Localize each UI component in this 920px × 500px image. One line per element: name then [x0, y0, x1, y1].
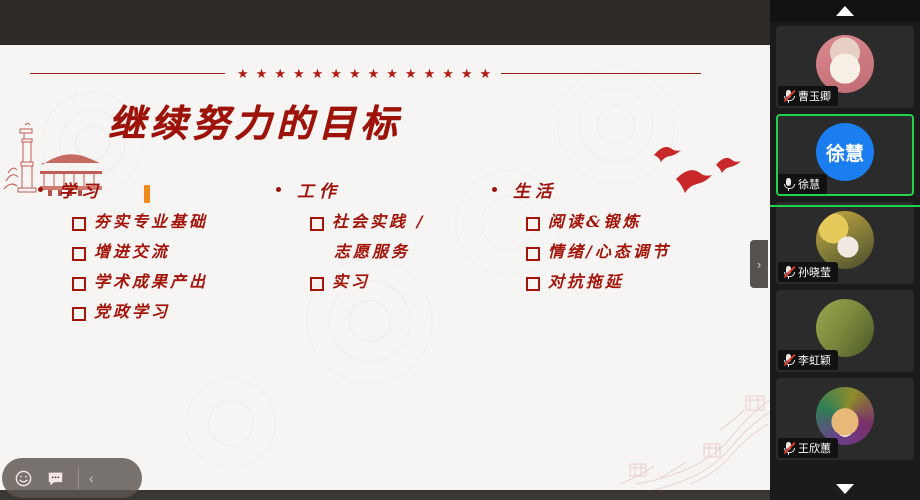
- microphone-icon: [783, 177, 794, 191]
- participant-nameplate: 孙晓莹: [778, 262, 838, 282]
- triangle-up-icon: [836, 6, 854, 16]
- goal-item: 实习: [310, 272, 486, 292]
- participant-nameplate: 王欣蕙: [778, 438, 838, 458]
- checkbox-square-icon: [526, 277, 540, 291]
- star-icon: ★: [293, 67, 305, 80]
- participant-tile[interactable]: 孙晓莹: [776, 202, 914, 284]
- participant-nameplate: 曹玉卿: [778, 86, 838, 106]
- checkbox-square-icon: [526, 217, 540, 231]
- participant-name: 曹玉卿: [798, 91, 831, 102]
- goal-item: 党政学习: [72, 302, 270, 322]
- microphone-muted-icon: [783, 265, 794, 279]
- floating-toolbar[interactable]: ‹: [2, 458, 142, 498]
- checkbox-square-icon: [72, 217, 86, 231]
- toolbar-divider: [78, 467, 79, 489]
- participant-tile[interactable]: 王欣蕙: [776, 378, 914, 460]
- sidebar-scrollbar-track[interactable]: [144, 22, 150, 478]
- participant-name: 徐慧: [798, 179, 820, 190]
- goal-column: 学习夯实专业基础增进交流学术成果产出党政学习: [32, 177, 270, 332]
- avatar-photo: [816, 211, 874, 269]
- star-icon: ★: [256, 67, 268, 80]
- goal-item: 阅读&锻炼: [526, 212, 726, 232]
- avatar-photo: [816, 299, 874, 357]
- goal-item: 社会实践 /: [310, 212, 486, 232]
- checkbox-square-icon: [526, 247, 540, 261]
- stage-top-letterbox: [0, 0, 770, 45]
- bullet-dot-icon: [492, 187, 497, 192]
- star-row: ★★★★★★★★★★★★★★: [237, 67, 491, 80]
- goal-column: 生活阅读&锻炼情绪/心态调节对抗拖延: [486, 177, 726, 332]
- scroll-down-button[interactable]: [770, 478, 920, 500]
- bullet-dot-icon: [38, 187, 43, 192]
- presentation-slide: ★★★★★★★★★★★★★★ 继续努力的目标: [0, 45, 770, 490]
- participant-name: 孙晓莹: [798, 267, 831, 278]
- column-title: 学习: [59, 177, 103, 202]
- goal-item: 学术成果产出: [72, 272, 270, 292]
- goal-item-label: 情绪/心态调节: [548, 242, 671, 262]
- star-icon: ★: [461, 67, 473, 80]
- goal-item: 增进交流: [72, 242, 270, 262]
- participant-sidebar[interactable]: 曹玉卿徐慧徐慧孙晓莹李虹颖王欣蕙: [770, 0, 920, 500]
- triangle-down-icon: [836, 484, 854, 494]
- collapse-chevron-icon[interactable]: ‹: [89, 470, 94, 486]
- goal-item-label: 实习: [332, 272, 370, 292]
- star-icon: ★: [237, 67, 249, 80]
- scroll-up-button[interactable]: [770, 0, 920, 22]
- column-title: 工作: [297, 177, 341, 202]
- checkbox-square-icon: [72, 307, 86, 321]
- participant-nameplate: 李虹颖: [778, 350, 838, 370]
- bullet-dot-icon: [276, 187, 281, 192]
- goal-item-label: 阅读&锻炼: [548, 212, 641, 232]
- star-icon: ★: [405, 67, 417, 80]
- active-speaker-underline: [770, 205, 920, 207]
- avatar-initials: 徐慧: [816, 123, 874, 181]
- column-heading: 工作: [270, 177, 486, 202]
- avatar-photo: [816, 387, 874, 445]
- avatar: [816, 387, 874, 445]
- avatar: [816, 35, 874, 93]
- participant-tile[interactable]: 李虹颖: [776, 290, 914, 372]
- header-rule-right: [501, 73, 701, 74]
- slide-header-ornament: ★★★★★★★★★★★★★★: [0, 65, 770, 81]
- checkbox-square-icon: [310, 217, 324, 231]
- star-icon: ★: [330, 67, 342, 80]
- header-rule-left: [30, 73, 225, 74]
- great-wall-icon: [600, 390, 770, 490]
- sidebar-scrollbar-thumb[interactable]: [144, 185, 150, 203]
- microphone-muted-icon: [783, 441, 794, 455]
- goal-column: 工作社会实践 /志愿服务实习: [270, 177, 486, 332]
- participant-name: 王欣蕙: [798, 443, 831, 454]
- emoji-reaction-icon[interactable]: [10, 465, 36, 491]
- participant-list[interactable]: 曹玉卿徐慧徐慧孙晓莹李虹颖王欣蕙: [770, 22, 920, 500]
- expand-panel-chevron-icon[interactable]: ›: [750, 240, 768, 288]
- goal-item-label: 学术成果产出: [94, 272, 208, 292]
- shared-screen-stage[interactable]: ★★★★★★★★★★★★★★ 继续努力的目标: [0, 0, 770, 500]
- goal-item-label: 社会实践 /: [332, 212, 425, 232]
- participant-name: 李虹颖: [798, 355, 831, 366]
- avatar-photo: [816, 35, 874, 93]
- goal-item-label: 增进交流: [94, 242, 170, 262]
- chat-bubble-icon[interactable]: [42, 465, 68, 491]
- microphone-muted-icon: [783, 89, 794, 103]
- avatar: [816, 211, 874, 269]
- checkbox-square-icon: [310, 277, 324, 291]
- participant-tile[interactable]: 曹玉卿: [776, 26, 914, 108]
- checkbox-square-icon: [72, 247, 86, 261]
- goal-item-label: 志愿服务: [334, 242, 410, 262]
- participant-nameplate: 徐慧: [778, 174, 827, 194]
- star-icon: ★: [442, 67, 454, 80]
- column-heading: 生活: [486, 177, 726, 202]
- star-icon: ★: [424, 67, 436, 80]
- microphone-muted-icon: [783, 353, 794, 367]
- goal-item-label: 党政学习: [94, 302, 170, 322]
- goal-item: 夯实专业基础: [72, 212, 270, 232]
- column-title: 生活: [513, 177, 557, 202]
- star-icon: ★: [349, 67, 361, 80]
- goal-item: 情绪/心态调节: [526, 242, 726, 262]
- goal-item: 对抗拖延: [526, 272, 726, 292]
- avatar: [816, 299, 874, 357]
- avatar: 徐慧: [816, 123, 874, 181]
- star-icon: ★: [386, 67, 398, 80]
- goal-item-label: 对抗拖延: [548, 272, 624, 292]
- checkbox-square-icon: [72, 277, 86, 291]
- goal-item-label: 夯实专业基础: [94, 212, 208, 232]
- slide-title: 继续努力的目标: [108, 93, 402, 147]
- star-icon: ★: [312, 67, 324, 80]
- star-icon: ★: [368, 67, 380, 80]
- star-icon: ★: [274, 67, 286, 80]
- goal-item: 志愿服务: [334, 242, 486, 262]
- star-icon: ★: [480, 67, 492, 80]
- goal-columns: 学习夯实专业基础增进交流学术成果产出党政学习工作社会实践 /志愿服务实习生活阅读…: [32, 177, 738, 332]
- column-heading: 学习: [32, 177, 270, 202]
- participant-tile[interactable]: 徐慧徐慧: [776, 114, 914, 196]
